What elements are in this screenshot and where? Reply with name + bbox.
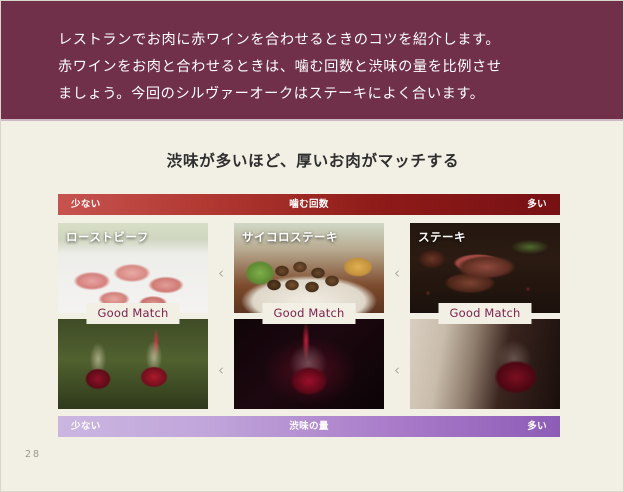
axis-top-center-label: 噛む回数 [58, 194, 560, 215]
pairing-column-2: サイコロステーキ Good Match [234, 223, 384, 409]
food-label-2: サイコロステーキ [242, 229, 338, 245]
pairing-grid: ローストビーフ Good Match ‹ ‹ サイコロステーキ Good Mat… [58, 223, 560, 409]
chevron-left-icon-wine-1: ‹ [208, 363, 234, 378]
pairing-column-1: ローストビーフ Good Match [58, 223, 208, 409]
match-badge-2: Good Match [262, 303, 355, 324]
chevron-left-icon-food-2: ‹ [384, 266, 410, 281]
axis-bottom-right-label: 多い [527, 416, 547, 437]
presentation-slide: レストランでお肉に赤ワインを合わせるときのコツを紹介します。 赤ワインをお肉と合… [0, 0, 624, 492]
axis-bar-chewing-count: 少ない 噛む回数 多い [58, 194, 560, 215]
chevron-left-icon-food-1: ‹ [208, 266, 234, 281]
column-gap-1: ‹ ‹ [208, 223, 234, 409]
axis-bottom-center-label: 渋味の量 [58, 416, 560, 437]
wine-photo-two-glasses [58, 319, 208, 409]
pairing-column-3: ステーキ Good Match [410, 223, 560, 409]
axis-bar-tannin-amount: 少ない 渋味の量 多い [58, 416, 560, 437]
wine-photo-pouring-glass [234, 319, 384, 409]
axis-top-right-label: 多い [527, 194, 547, 215]
header-description-text: レストランでお肉に赤ワインを合わせるときのコツを紹介します。 赤ワインをお肉と合… [58, 27, 578, 108]
food-label-1: ローストビーフ [66, 229, 149, 245]
slide-header-band: レストランでお肉に赤ワインを合わせるときのコツを紹介します。 赤ワインをお肉と合… [1, 1, 624, 119]
food-photo-steak: ステーキ [410, 223, 560, 313]
header-underline-divider [1, 119, 624, 121]
page-number: 28 [25, 449, 41, 460]
match-badge-1: Good Match [86, 303, 179, 324]
section-title: 渋味が多いほど、厚いお肉がマッチする [1, 149, 624, 171]
column-gap-2: ‹ ‹ [384, 223, 410, 409]
food-photo-dice-steak: サイコロステーキ [234, 223, 384, 313]
food-label-3: ステーキ [418, 229, 466, 245]
wine-photo-serving-glass [410, 319, 560, 409]
chevron-left-icon-wine-2: ‹ [384, 363, 410, 378]
food-photo-roast-beef: ローストビーフ [58, 223, 208, 313]
match-badge-3: Good Match [438, 303, 531, 324]
